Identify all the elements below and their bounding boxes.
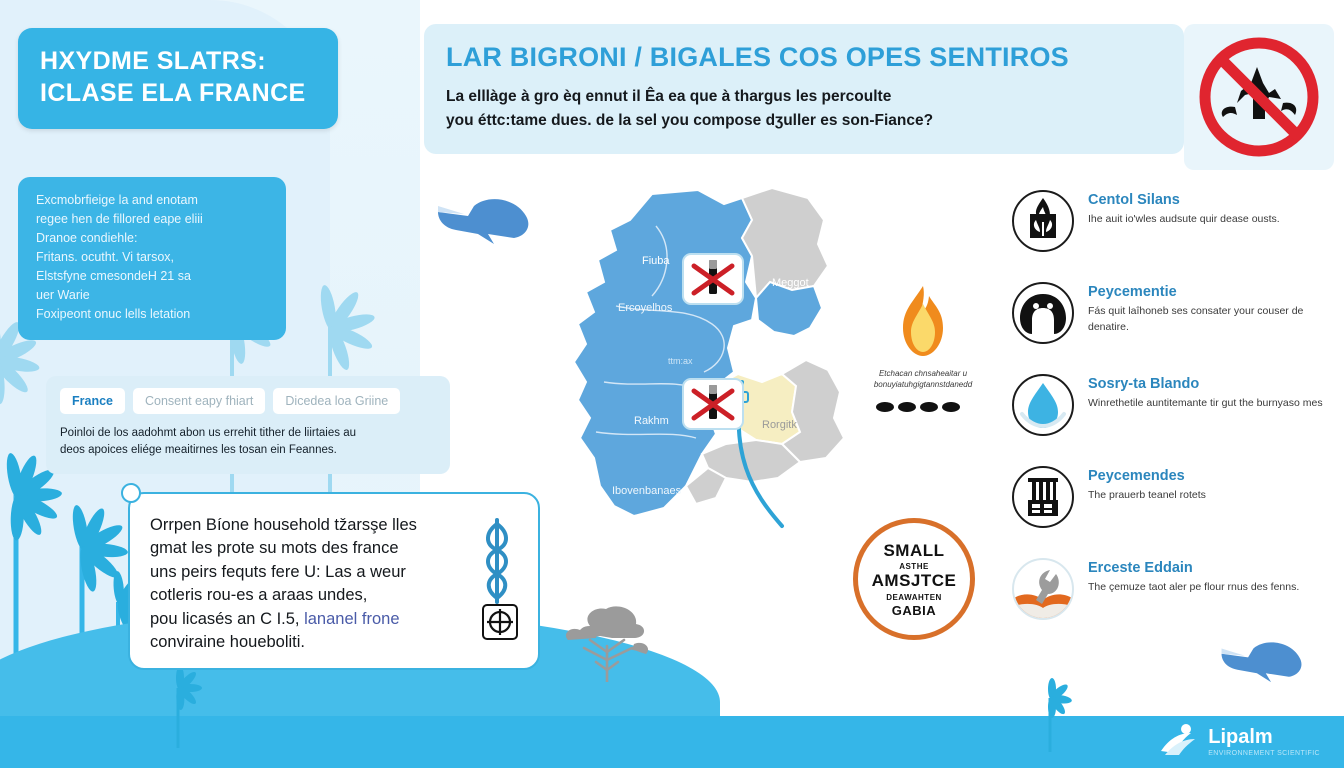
intro-line: Elstsfyne cmesondeH 21 sa: [36, 267, 270, 286]
map-label: Ibovenbanaes: [612, 485, 682, 497]
tab-dicedea[interactable]: Dicedea loa Griine: [273, 388, 400, 414]
header-subtitle: La elllàge à gro èq ennut il Êa ea que à…: [446, 85, 1162, 133]
tab-consent[interactable]: Consent eapy fhiart: [133, 388, 265, 414]
flame-caption: Etchacan chnsaheaitar u bonuyiatuhgigtan…: [858, 369, 988, 391]
map-label: Wilhos: [742, 339, 776, 351]
brand-logo: Lipalm ENVIRONNEMENT SCIENTIFIC: [1159, 721, 1320, 762]
list-item[interactable]: Peycemendes The prauerb teanel rotets: [1012, 466, 1342, 538]
flame-icon: [895, 345, 951, 362]
title-line-1: HXYDME SLATRS:: [40, 46, 320, 78]
flame-caption-line-1: Etchacan chnsaheaitar u: [858, 369, 988, 380]
intro-blue-box: Excmobrfieige la and enotam regee hen de…: [18, 177, 286, 340]
map-label: Meggot: [772, 277, 809, 289]
callout-line-3: uns peirs fequts fere U: Las a weur: [150, 561, 460, 584]
list-item-title: Ercestе Eddain: [1088, 560, 1299, 577]
header-subtitle-line-2: you éttc:tame dues. de la sel you compos…: [446, 109, 1162, 133]
no-open-fire-sign: [1184, 24, 1334, 170]
list-item[interactable]: Peycementie Fás quit laîhoneb ses consat…: [1012, 282, 1342, 354]
callout-line-2: gmat les prote su mots des france: [150, 537, 460, 560]
tabs-row: France Consent eapy fhiart Dicedea loa G…: [60, 388, 436, 414]
map-label: Fiuba: [642, 255, 670, 267]
map-label: Rorgitk: [762, 419, 797, 431]
list-item-text: Centol Silans Ihe auit io'wles audsute q…: [1088, 190, 1280, 228]
header-bar: LAR BIGRONI / BIGALES COS OPES SENTIROS …: [424, 24, 1184, 154]
logo-name: Lipalm: [1208, 726, 1272, 748]
intro-line: uer Warie: [36, 286, 270, 305]
tabs-card: France Consent eapy fhiart Dicedea loa G…: [46, 376, 450, 474]
intro-line: Excmobrfieige la and enotam: [36, 191, 270, 210]
household-callout: Orrpen Bíone household tžarsşe lles gmat…: [128, 492, 540, 670]
no-cigarette-badge-north: [682, 253, 744, 305]
flame-caption-line-2: bonuyiatuhgigtannstdanedd: [858, 380, 988, 391]
tab-france[interactable]: France: [60, 388, 125, 414]
flame-block: Etchacan chnsaheaitar u bonuyiatuhgigtan…: [858, 284, 988, 418]
whale-icon-left: [434, 190, 538, 253]
mask-face-icon: [1012, 282, 1074, 344]
infographic-canvas: HXYDME SLATRS: ICLASE ELA FRANCE Excmobr…: [0, 0, 1344, 768]
list-item[interactable]: Sosry-ta Blando Winrethetile auntitemant…: [1012, 374, 1342, 446]
intro-line: regee hen de fillored eape eliii: [36, 210, 270, 229]
stamp-line-5: GABIA: [858, 603, 970, 618]
map-label: ttm:ax: [668, 356, 693, 366]
tabs-note-line-1: Poinloi de los aadohmt abon us errehit t…: [60, 425, 436, 442]
stamp-line-1: SMALL: [858, 541, 970, 561]
certification-stamp: SMALL ASTHE AMSJTCE DEAWAHTEN GABIA: [853, 518, 975, 640]
callout-line-5: pou licasés an C I.5, lananel frone: [150, 608, 460, 631]
callout-line-5-highlight: lananel frone: [304, 610, 399, 628]
chain-divider-icon: [875, 400, 971, 417]
list-item-body: Ihe auit io'wles audsute quir dease oust…: [1088, 212, 1280, 227]
acacia-tree-icon: [560, 600, 654, 687]
list-item-text: Sosry-ta Blando Winrethetile auntitemant…: [1088, 374, 1323, 412]
stamp-line-3: AMSJTCE: [858, 571, 970, 591]
callout-line-4: cotleris rou-es a araas undes,: [150, 584, 460, 607]
water-hands-icon: [1012, 374, 1074, 436]
list-item[interactable]: Centol Silans Ihe auit io'wles audsute q…: [1012, 190, 1342, 262]
list-item-title: Peycemendes: [1088, 468, 1206, 485]
list-item-body: The çemuze taot aler pe flour rnus des f…: [1088, 580, 1299, 595]
tabs-note: Poinloi de los aadohmt abon us errehit t…: [60, 425, 436, 460]
list-item-body: The prauerb teanel rotets: [1088, 488, 1206, 503]
callout-line-6: conviraine houeboliti.: [150, 631, 460, 654]
title-line-2: ICLASE ELA FRANCE: [40, 78, 320, 110]
list-item-text: Peycementie Fás quit laîhoneb ses consat…: [1088, 282, 1342, 335]
tabs-note-line-2: deos apoices eliége meaitirnes les tosan…: [60, 442, 436, 459]
list-item-title: Peycementie: [1088, 284, 1342, 301]
list-item-title: Centol Silans: [1088, 192, 1280, 209]
header-title: LAR BIGRONI / BIGALES COS OPES SENTIROS: [446, 42, 1162, 73]
map-label: Ercoyelhos: [618, 302, 673, 314]
callout-line-1: Orrpen Bíone household tžarsşe lles: [150, 514, 460, 537]
callout-text: Orrpen Bíone household tžarsşe lles gmat…: [150, 514, 460, 655]
map-label: Valum: [804, 475, 834, 487]
logo-text: Lipalm ENVIRONNEMENT SCIENTIFIC: [1208, 727, 1320, 757]
map-label: Rakhm: [634, 415, 669, 427]
key-points-list: Centol Silans Ihe auit io'wles audsute q…: [1012, 190, 1342, 650]
caduceus-icon: [474, 518, 520, 609]
list-item-text: Peycemendes The prauerb teanel rotets: [1088, 466, 1206, 504]
header-subtitle-line-1: La elllàge à gro èq ennut il Êa ea que à…: [446, 85, 1162, 109]
logo-mark-icon: [1159, 721, 1199, 762]
crosshair-icon: [482, 604, 518, 640]
title-chip: HXYDME SLATRS: ICLASE ELA FRANCE: [18, 28, 338, 129]
intro-line: Foxipeont onuc lells letation: [36, 305, 270, 324]
stamp-line-4: DEAWAHTEN: [858, 593, 970, 602]
intro-line: Fritans. ocutht. Vi tarsox,: [36, 248, 270, 267]
list-item-body: Fás quit laîhoneb ses consater your cous…: [1088, 304, 1342, 334]
intro-line: Dranoe condiehle:: [36, 229, 270, 248]
logo-subtitle: ENVIRONNEMENT SCIENTIFIC: [1208, 750, 1320, 757]
flame-icon-wrap: [858, 284, 988, 363]
stamp-line-2: ASTHE: [858, 562, 970, 571]
burning-crop-icon: [1012, 190, 1074, 252]
no-cigarette-badge-south: [682, 378, 744, 430]
callout-knob: [121, 483, 141, 503]
list-item-body: Winrethetile auntitemante tir gut the bu…: [1088, 396, 1323, 411]
list-item-title: Sosry-ta Blando: [1088, 376, 1323, 393]
list-item-text: Ercestе Eddain The çemuze taot aler pe f…: [1088, 558, 1299, 596]
air-filter-icon: [1012, 466, 1074, 528]
callout-line-5-plain: pou licasés an C I.5,: [150, 610, 304, 628]
footer-band: [0, 716, 1344, 768]
tool-soil-icon: [1012, 558, 1074, 620]
chain-divider-wrap: [858, 399, 988, 418]
list-item[interactable]: Ercestе Eddain The çemuze taot aler pe f…: [1012, 558, 1342, 630]
